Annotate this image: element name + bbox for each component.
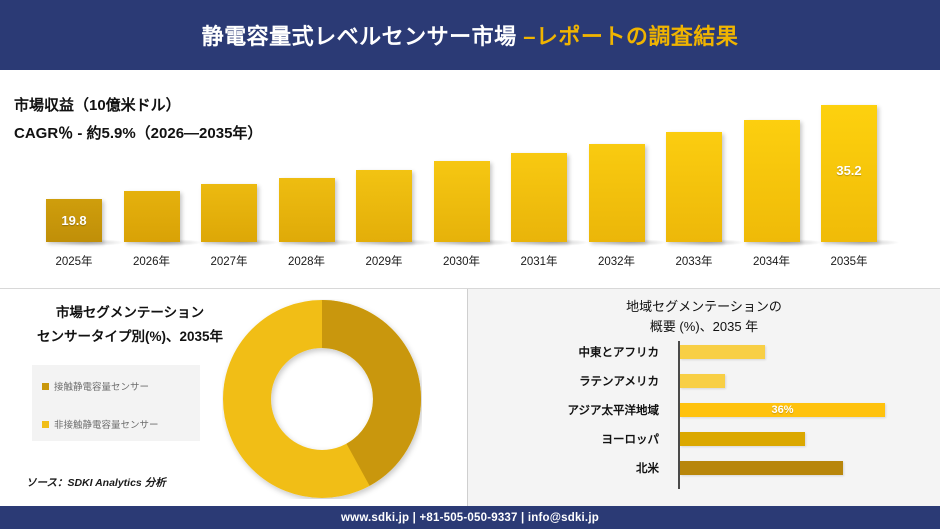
bar-column: 2026年 xyxy=(124,191,180,242)
bar-category-label: 2030年 xyxy=(420,242,504,269)
bar-category-label: 2027年 xyxy=(187,242,271,269)
bar-category-label: 2029年 xyxy=(342,242,426,269)
revenue-bar-chart: 19.82025年2026年2027年2028年2029年2030年2031年2… xyxy=(0,96,940,276)
legend-swatch-icon xyxy=(42,383,49,390)
bar-value-label: 35.2 xyxy=(821,163,877,178)
segmentation-title-line2: センサータイプ別(%)、2035年 xyxy=(0,325,260,349)
bar-column: 2027年 xyxy=(201,184,257,242)
infographic-root: 静電容量式レベルセンサー市場 –レポートの調査結果 市場収益（10億米ドル） C… xyxy=(0,0,940,529)
page-title-main: 静電容量式レベルセンサー市場 xyxy=(202,24,524,49)
bar-category-label: 2035年 xyxy=(807,242,891,269)
regional-panel: 地域セグメンテーションの 概要 (%)、2035 年 中東とアフリカラテンアメリ… xyxy=(468,289,940,506)
bar-category-label: 2034年 xyxy=(730,242,814,269)
bar-column: 2032年 xyxy=(589,144,645,242)
regional-title-line1: 地域セグメンテーションの xyxy=(468,297,940,317)
regional-row: アジア太平洋地域36% xyxy=(468,397,940,423)
regional-title-line2: 概要 (%)、2035 年 xyxy=(468,317,940,337)
bar-column: 2028年 xyxy=(279,178,335,242)
regional-title: 地域セグメンテーションの 概要 (%)、2035 年 xyxy=(468,297,940,337)
bar-2033年: 2033年 xyxy=(666,132,722,242)
regional-row-label: 中東とアフリカ xyxy=(468,344,668,360)
bar-2026年: 2026年 xyxy=(124,191,180,242)
bar-column: 2033年 xyxy=(666,132,722,242)
bar-column: 2034年 xyxy=(744,120,800,242)
legend-swatch-icon xyxy=(42,421,49,428)
segmentation-panel: 市場セグメンテーション センサータイプ別(%)、2035年 接触静電容量センサー… xyxy=(0,289,467,506)
bar-category-label: 2032年 xyxy=(575,242,659,269)
segmentation-legend: 接触静電容量センサー非接触静電容量センサー xyxy=(32,365,200,441)
legend-item-label: 接触静電容量センサー xyxy=(54,379,149,393)
legend-item[interactable]: 非接触静電容量センサー xyxy=(42,417,159,431)
regional-row-label: ラテンアメリカ xyxy=(468,373,668,389)
bar-2032年: 2032年 xyxy=(589,144,645,242)
regional-bar-ヨーロッパ xyxy=(680,432,805,446)
regional-bar-chart: 中東とアフリカラテンアメリカアジア太平洋地域36%ヨーロッパ北米 xyxy=(468,339,940,497)
bar-2029年: 2029年 xyxy=(356,170,412,242)
regional-bar-北米 xyxy=(680,461,843,475)
regional-bar-value: 36% xyxy=(680,404,885,416)
donut-chart xyxy=(222,299,422,499)
header-banner: 静電容量式レベルセンサー市場 –レポートの調査結果 xyxy=(0,0,940,70)
legend-item-label: 非接触静電容量センサー xyxy=(54,417,159,431)
bar-column: 2031年 xyxy=(511,153,567,242)
legend-item[interactable]: 接触静電容量センサー xyxy=(42,379,149,393)
bar-category-label: 2031年 xyxy=(497,242,581,269)
regional-row: 北米 xyxy=(468,455,940,481)
donut-chart-svg xyxy=(222,299,422,499)
bar-2027年: 2027年 xyxy=(201,184,257,242)
bar-category-label: 2033年 xyxy=(652,242,736,269)
bar-column: 2030年 xyxy=(434,161,490,242)
regional-row-label: アジア太平洋地域 xyxy=(468,402,668,418)
regional-bar-ラテンアメリカ xyxy=(680,374,725,388)
regional-row: ヨーロッパ xyxy=(468,426,940,452)
bar-2034年: 2034年 xyxy=(744,120,800,242)
bar-2035年: 35.22035年 xyxy=(821,105,877,242)
regional-row: 中東とアフリカ xyxy=(468,339,940,365)
regional-bar-アジア太平洋地域: 36% xyxy=(680,403,885,417)
bar-category-label: 2028年 xyxy=(265,242,349,269)
source-note: ソース：SDKI Analytics 分析 xyxy=(26,475,166,490)
bar-value-label: 19.8 xyxy=(46,213,102,228)
bar-2030年: 2030年 xyxy=(434,161,490,242)
regional-row: ラテンアメリカ xyxy=(468,368,940,394)
bar-2031年: 2031年 xyxy=(511,153,567,242)
regional-bar-中東とアフリカ xyxy=(680,345,765,359)
footer-contact: www.sdki.jp | +81-505-050-9337 | info@sd… xyxy=(341,512,599,524)
regional-row-label: 北米 xyxy=(468,460,668,476)
footer-banner: www.sdki.jp | +81-505-050-9337 | info@sd… xyxy=(0,506,940,529)
bar-column: 2029年 xyxy=(356,170,412,242)
page-title: 静電容量式レベルセンサー市場 –レポートの調査結果 xyxy=(202,19,739,51)
bar-category-label: 2026年 xyxy=(110,242,194,269)
bar-2025年: 19.82025年 xyxy=(46,199,102,242)
bar-column: 35.22035年 xyxy=(821,105,877,242)
page-title-accent: –レポートの調査結果 xyxy=(523,24,738,49)
bar-category-label: 2025年 xyxy=(32,242,116,269)
bar-2028年: 2028年 xyxy=(279,178,335,242)
regional-row-label: ヨーロッパ xyxy=(468,431,668,447)
segmentation-title-line1: 市場セグメンテーション xyxy=(0,301,260,325)
bar-column: 19.82025年 xyxy=(46,199,102,242)
segmentation-title: 市場セグメンテーション センサータイプ別(%)、2035年 xyxy=(0,301,260,349)
